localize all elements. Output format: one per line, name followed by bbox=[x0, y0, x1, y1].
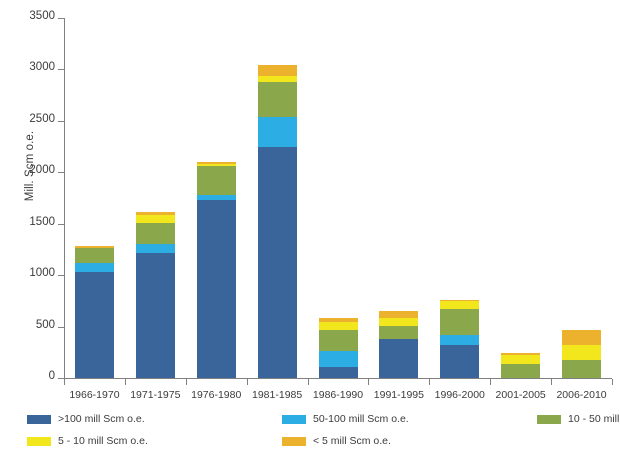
bar-2006-2010 bbox=[562, 330, 601, 378]
legend-item[interactable]: >100 mill Scm o.e. bbox=[27, 414, 145, 425]
legend-label: 5 - 10 mill Scm o.e. bbox=[58, 436, 148, 447]
x-axis-label-1996-2000: 1996-2000 bbox=[430, 389, 490, 401]
x-axis-label-1981-1985: 1981-1985 bbox=[247, 389, 307, 401]
y-axis-tick-label: 500 bbox=[36, 319, 55, 331]
y-axis-tick-label: 3500 bbox=[29, 10, 55, 22]
bar-segment bbox=[319, 367, 358, 378]
bar-segment bbox=[136, 223, 175, 244]
legend-label: 10 - 50 mill Scm o.e. bbox=[568, 414, 620, 425]
x-axis-tick bbox=[551, 379, 552, 385]
bar-segment bbox=[319, 351, 358, 367]
bar-segment bbox=[379, 326, 418, 339]
bar-segment bbox=[136, 244, 175, 253]
bar-segment bbox=[197, 162, 236, 164]
bar-1991-1995 bbox=[379, 311, 418, 378]
x-axis-tick bbox=[247, 379, 248, 385]
legend-label: >100 mill Scm o.e. bbox=[58, 414, 145, 425]
bar-1981-1985 bbox=[258, 65, 297, 378]
legend-item[interactable]: 50-100 mill Scm o.e. bbox=[282, 414, 409, 425]
legend-swatch-icon bbox=[537, 415, 561, 424]
x-axis-label-1971-1975: 1971-1975 bbox=[125, 389, 185, 401]
bar-1971-1975 bbox=[136, 212, 175, 378]
bar-segment bbox=[197, 200, 236, 378]
bar-segment bbox=[258, 65, 297, 75]
legend-swatch-icon bbox=[27, 415, 51, 424]
bar-1986-1990 bbox=[319, 318, 358, 378]
bar-segment bbox=[75, 248, 114, 263]
bar-segment bbox=[197, 164, 236, 166]
bar-segment bbox=[440, 300, 479, 301]
x-axis-tick bbox=[429, 379, 430, 385]
legend-item[interactable]: 5 - 10 mill Scm o.e. bbox=[27, 436, 148, 447]
bar-segment bbox=[440, 335, 479, 345]
legend-label: < 5 mill Scm o.e. bbox=[313, 436, 391, 447]
bar-segment bbox=[136, 253, 175, 378]
y-axis-tick-label: 2500 bbox=[29, 113, 55, 125]
x-axis-tick bbox=[490, 379, 491, 385]
bar-segment bbox=[258, 76, 297, 82]
stacked-bar-chart: Mill. Scm o.e. 0500100015002000250030003… bbox=[0, 0, 620, 463]
bar-segment bbox=[258, 117, 297, 147]
legend-item[interactable]: 10 - 50 mill Scm o.e. bbox=[537, 414, 620, 425]
bar-1966-1970 bbox=[75, 246, 114, 378]
x-axis-label-1976-1980: 1976-1980 bbox=[186, 389, 246, 401]
bar-segment bbox=[501, 364, 540, 378]
bar-segment bbox=[319, 318, 358, 322]
bar-segment bbox=[562, 360, 601, 378]
x-axis-tick bbox=[64, 379, 65, 385]
legend-swatch-icon bbox=[282, 437, 306, 446]
x-axis-label-1986-1990: 1986-1990 bbox=[308, 389, 368, 401]
x-axis-tick bbox=[612, 379, 613, 385]
bar-segment bbox=[562, 330, 601, 345]
x-axis-tick bbox=[308, 379, 309, 385]
bar-segment bbox=[258, 147, 297, 378]
y-axis-tick-label: 1500 bbox=[29, 216, 55, 228]
y-axis-tick-label: 3000 bbox=[29, 61, 55, 73]
bar-segment bbox=[75, 263, 114, 271]
x-axis-label-2001-2005: 2001-2005 bbox=[491, 389, 551, 401]
y-axis-tick-label: 0 bbox=[49, 370, 55, 382]
x-axis-labels: 1966-19701971-19751976-19801981-19851986… bbox=[64, 389, 612, 405]
x-axis-label-2006-2010: 2006-2010 bbox=[552, 389, 612, 401]
y-axis-tick-label: 1000 bbox=[29, 267, 55, 279]
legend-swatch-icon bbox=[282, 415, 306, 424]
bar-segment bbox=[562, 345, 601, 360]
bar-segment bbox=[379, 311, 418, 318]
bar-segment bbox=[379, 339, 418, 378]
bar-segment bbox=[136, 215, 175, 223]
bar-segment bbox=[440, 345, 479, 378]
x-axis-label-1991-1995: 1991-1995 bbox=[369, 389, 429, 401]
bar-2001-2005 bbox=[501, 353, 540, 378]
x-axis-label-1966-1970: 1966-1970 bbox=[64, 389, 124, 401]
plot-area: 0500100015002000250030003500 bbox=[64, 18, 612, 378]
bar-1996-2000 bbox=[440, 300, 479, 378]
bar-segment bbox=[319, 330, 358, 351]
bar-segment bbox=[197, 195, 236, 199]
bar-segment bbox=[501, 355, 540, 364]
bar-segment bbox=[440, 309, 479, 335]
bar-segment bbox=[379, 318, 418, 326]
legend-label: 50-100 mill Scm o.e. bbox=[313, 414, 409, 425]
bar-segment bbox=[136, 212, 175, 215]
bar-1976-1980 bbox=[197, 162, 236, 379]
x-axis-tick bbox=[368, 379, 369, 385]
legend-item[interactable]: < 5 mill Scm o.e. bbox=[282, 436, 391, 447]
bars-layer bbox=[64, 18, 612, 378]
legend-swatch-icon bbox=[27, 437, 51, 446]
bar-segment bbox=[258, 82, 297, 117]
x-axis-tick bbox=[186, 379, 187, 385]
y-axis-tick-label: 2000 bbox=[29, 164, 55, 176]
bar-segment bbox=[440, 301, 479, 308]
bar-segment bbox=[197, 166, 236, 196]
x-axis-line bbox=[64, 378, 612, 379]
bar-segment bbox=[75, 272, 114, 378]
bar-segment bbox=[501, 353, 540, 355]
x-axis-tick bbox=[125, 379, 126, 385]
bar-segment bbox=[319, 322, 358, 329]
chart-legend: >100 mill Scm o.e.50-100 mill Scm o.e.10… bbox=[27, 414, 607, 459]
bar-segment bbox=[75, 246, 114, 248]
